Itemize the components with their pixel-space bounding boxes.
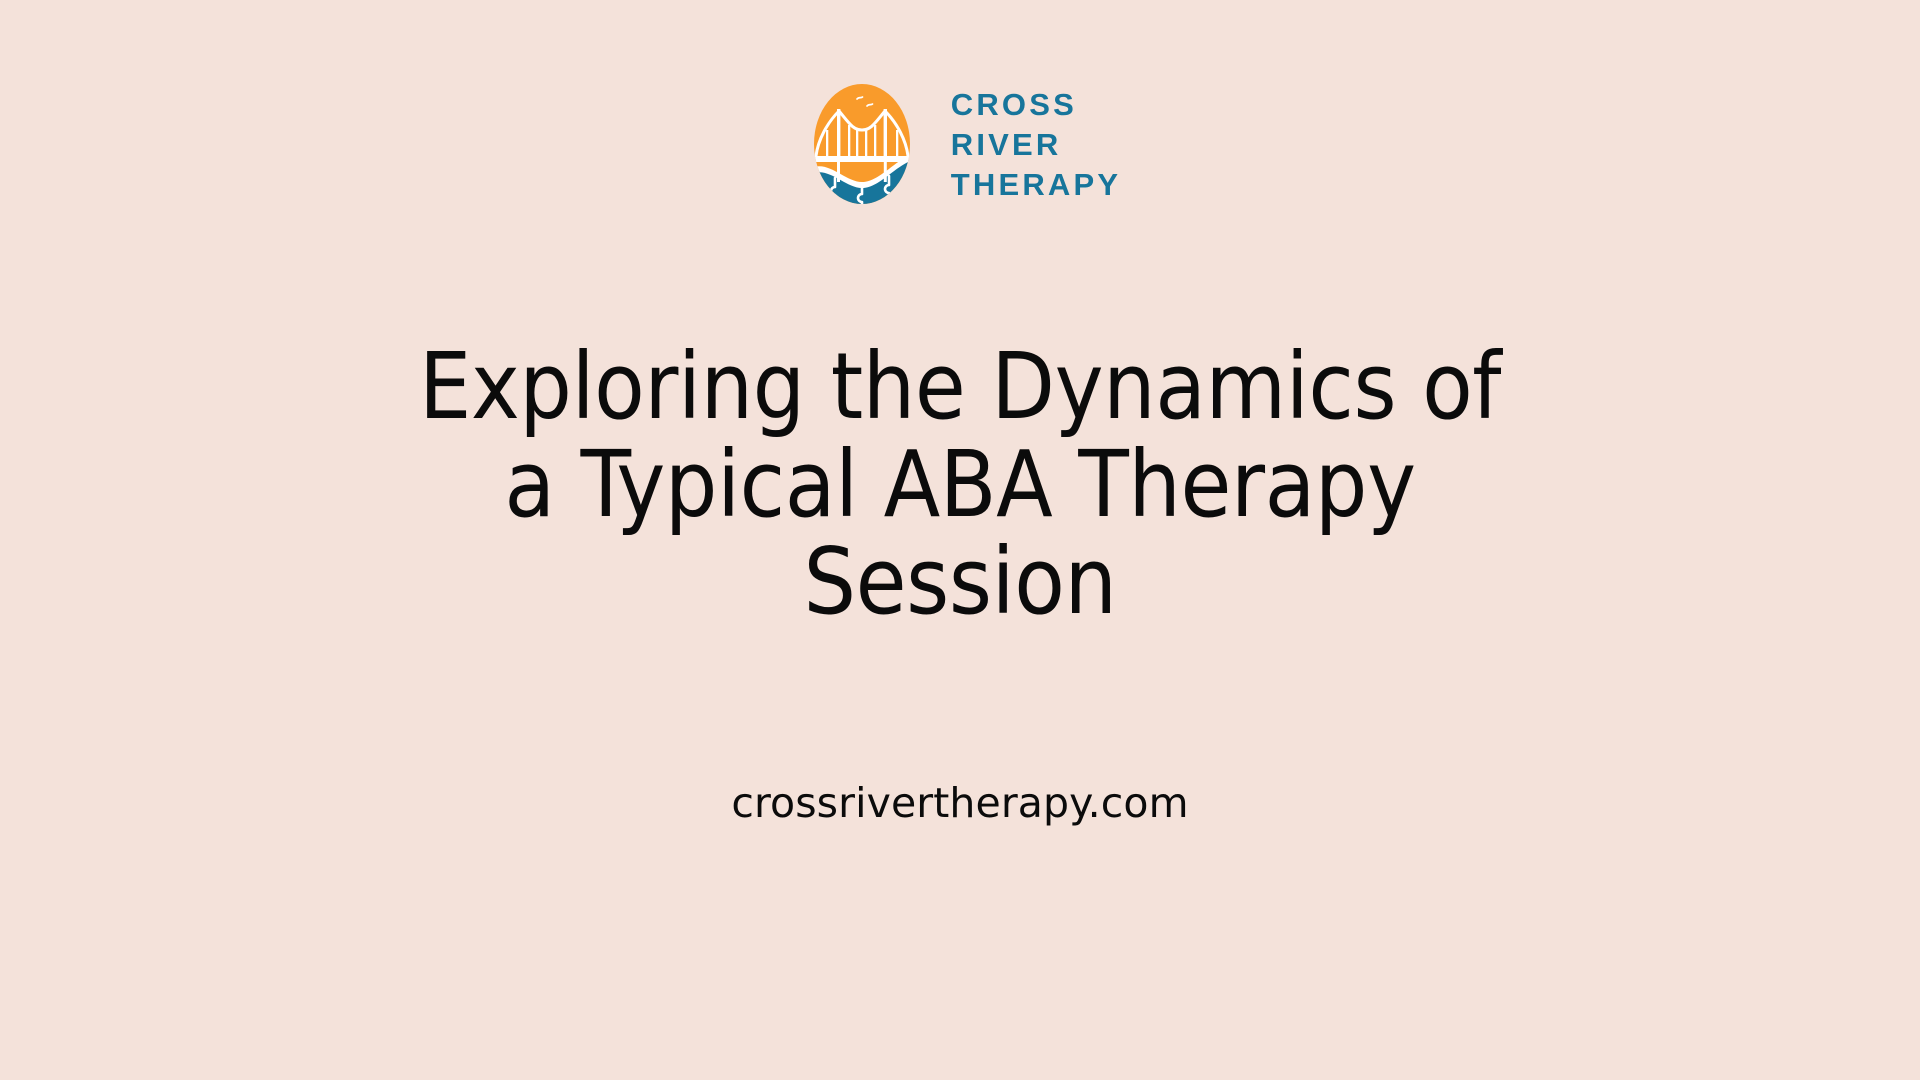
brand-wordmark: CROSS RIVER THERAPY (951, 89, 1122, 200)
wordmark-line-river: RIVER (951, 129, 1122, 160)
wordmark-line-therapy: THERAPY (951, 169, 1122, 200)
cross-river-therapy-bridge-sun-logo-icon (799, 68, 925, 220)
page-title: Exploring the Dynamics of a Typical ABA … (310, 338, 1610, 631)
site-url[interactable]: crossrivertherapy.com (731, 783, 1188, 824)
poster-canvas: CROSS RIVER THERAPY Exploring the Dynami… (0, 0, 1920, 1080)
headline-block: Exploring the Dynamics of a Typical ABA … (310, 338, 1610, 631)
footer-block: crossrivertherapy.com (731, 783, 1188, 824)
wordmark-line-cross: CROSS (951, 89, 1122, 120)
brand-logo[interactable]: CROSS RIVER THERAPY (799, 68, 1122, 220)
